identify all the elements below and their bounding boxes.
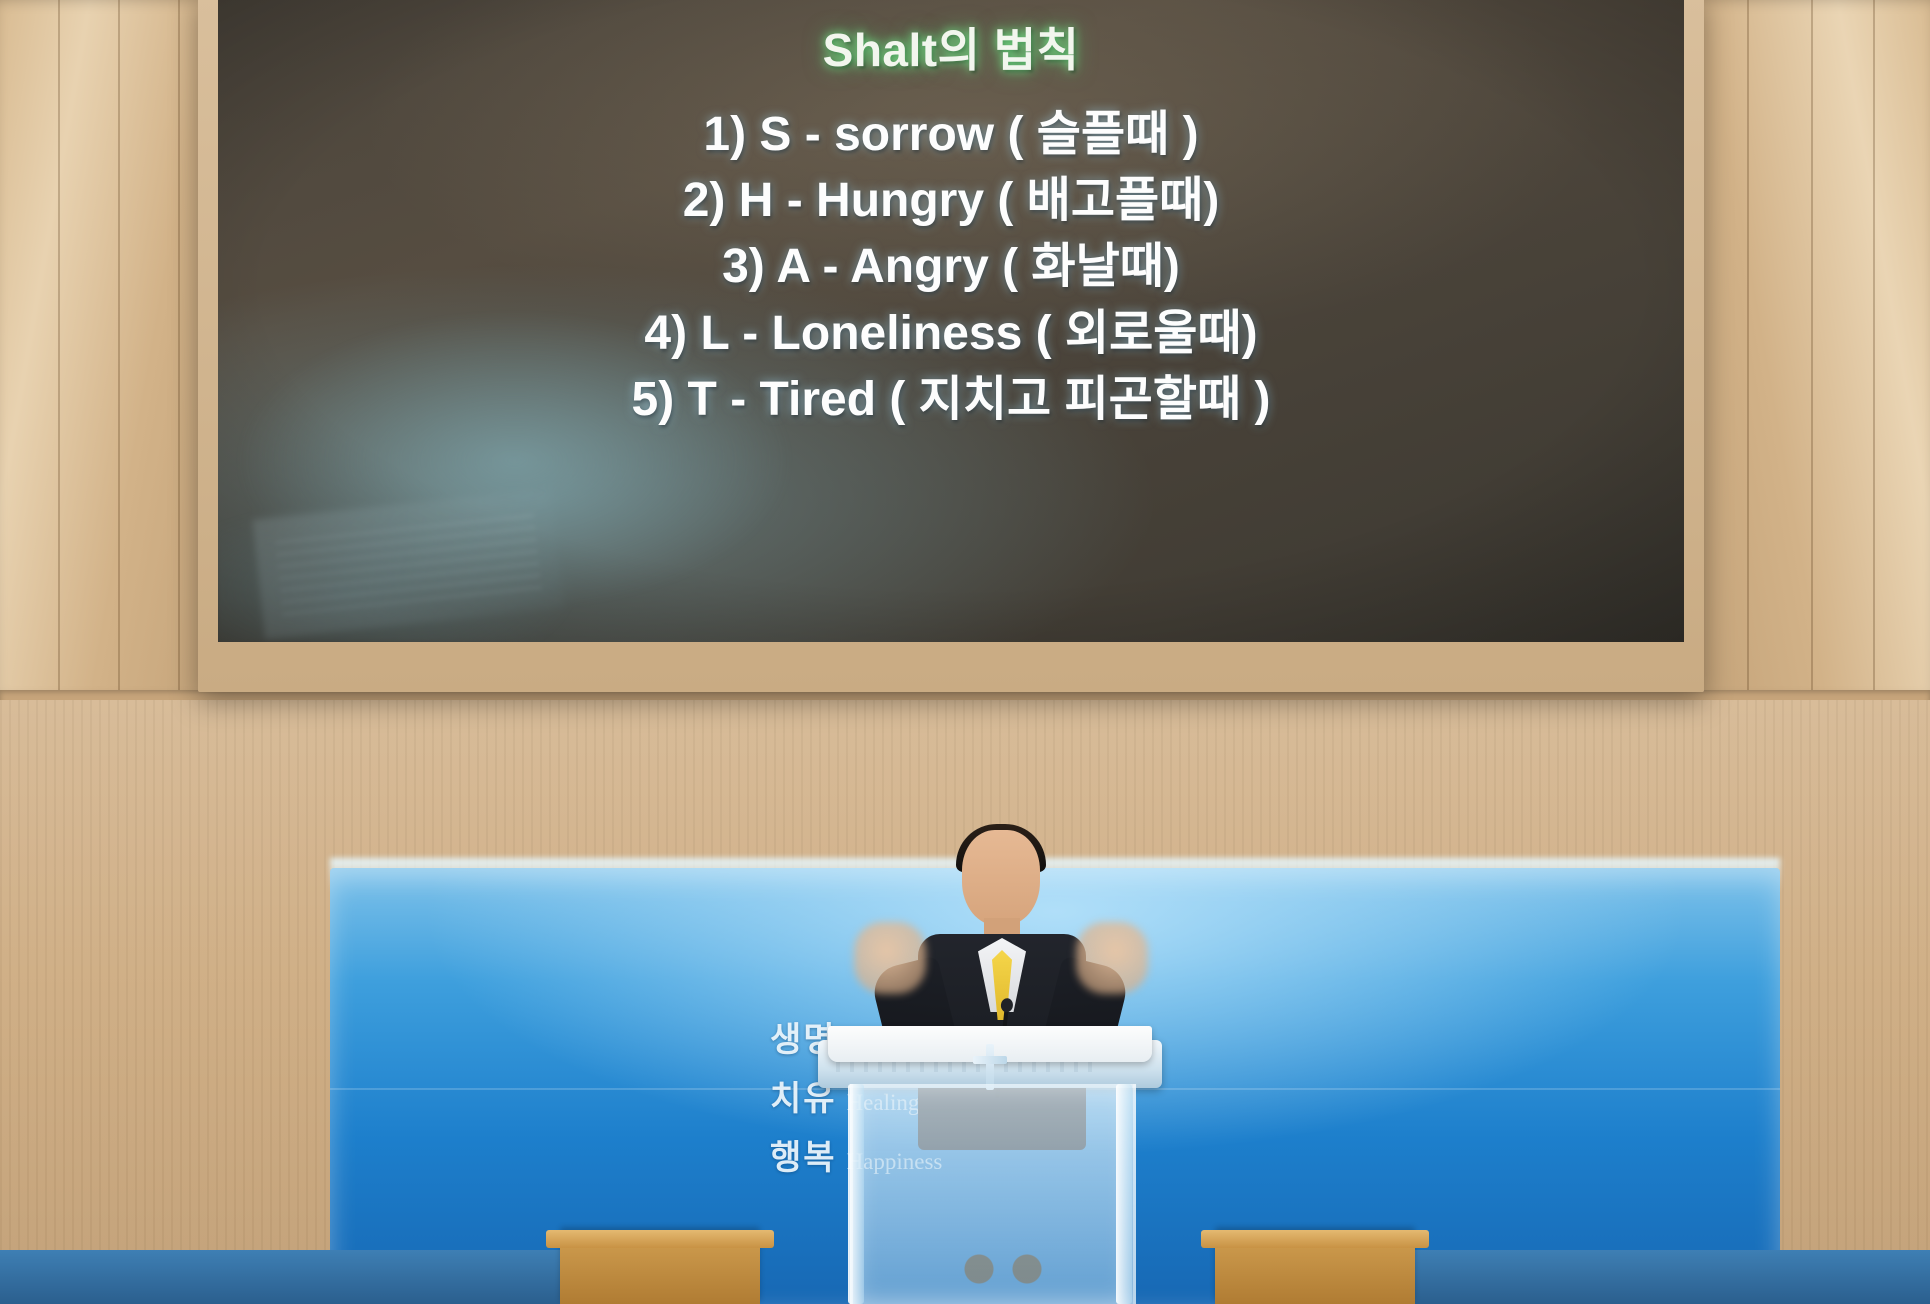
- wooden-pedestal-right: [1215, 1230, 1415, 1304]
- pulpit-pillar-right: [1116, 1084, 1132, 1304]
- projection-screen-frame: Shalt의 법칙 1) S - sorrow ( 슬플때 ) 2) H - H…: [198, 0, 1704, 692]
- speaker-head: [962, 830, 1040, 926]
- pulpit: [840, 1040, 1140, 1304]
- speaker-left-hand: [854, 922, 926, 994]
- stage-floor-right: [1415, 1250, 1930, 1304]
- slogan-ko-3: 행복: [770, 1130, 837, 1179]
- sanctuary-scene: Shalt의 법칙 1) S - sorrow ( 슬플때 ) 2) H - H…: [0, 0, 1930, 1304]
- screen-vignette: [218, 0, 1684, 642]
- wood-panel-right: [1685, 0, 1930, 700]
- pulpit-front-panel: [850, 1084, 1136, 1304]
- speaker-right-hand: [1076, 922, 1148, 994]
- pulpit-pillar-left: [848, 1084, 864, 1304]
- projection-screen: Shalt의 법칙 1) S - sorrow ( 슬플때 ) 2) H - H…: [218, 0, 1684, 642]
- stage-floor-left: [0, 1250, 560, 1304]
- pulpit-ornament: [943, 1234, 1063, 1304]
- wooden-pedestal-left: [560, 1230, 760, 1304]
